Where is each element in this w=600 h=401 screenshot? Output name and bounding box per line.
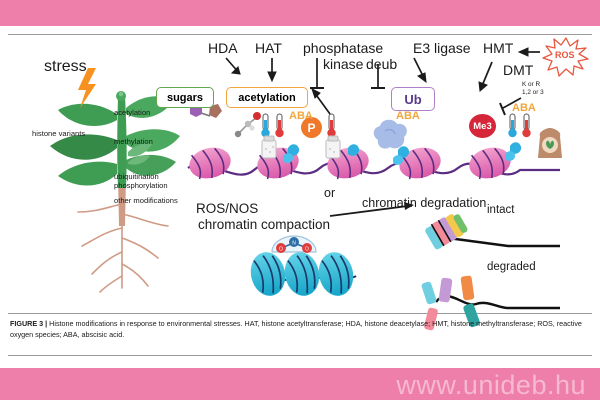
figure-caption: FIGURE 3 | Histone modifications in resp…: [10, 318, 590, 340]
divider-top: [8, 34, 592, 35]
label-hat: HAT: [255, 40, 282, 56]
annotation-acetylation: acetylation: [114, 108, 150, 117]
ubiquitin-blob-icon: [374, 120, 407, 149]
label-chromatin-degradation: chromatin degradation: [362, 196, 486, 210]
label-dmt: DMT: [503, 62, 533, 78]
ros-badge-label: ROS: [555, 50, 575, 60]
box-ubiquitin[interactable]: Ub: [391, 87, 435, 111]
compacted-chromatin: O O N: [247, 236, 357, 299]
label-deub: deub: [366, 56, 397, 72]
label-kinase: kinase: [323, 56, 363, 72]
annotation-text: histone variants: [32, 129, 85, 138]
figure-caption-text: Histone modifications in response to env…: [10, 319, 582, 339]
label-ros-nos: ROS/NOS: [196, 201, 258, 216]
divider-bottom: [8, 313, 592, 314]
label-degraded: degraded: [487, 261, 536, 273]
label-intact: intact: [487, 204, 515, 216]
annotation-phosphorylation: phosphorylation: [114, 181, 168, 190]
label-e3-ligase: E3 ligase: [413, 40, 471, 56]
divider-caption: [8, 355, 592, 356]
aba-label-3: ABA: [512, 102, 536, 114]
svg-text:N: N: [292, 240, 296, 246]
acetyl-group-icon: [235, 112, 261, 137]
annotation-ubiquitination: ubiquitination: [114, 172, 159, 181]
methyl-badge: Me3: [469, 114, 496, 138]
figure-page: www.unideb.hu: [0, 0, 600, 400]
annotation-other-modifications: other modifications: [114, 196, 178, 205]
nitric-oxide-molecule-icon: O O N: [272, 236, 316, 253]
residue-note-line1: K or R: [522, 81, 540, 88]
figure-artwork: O O N: [0, 36, 600, 311]
box-acetylation[interactable]: acetylation: [226, 87, 308, 108]
label-hmt: HMT: [483, 40, 513, 56]
label-phosphatase: phosphatase: [303, 40, 383, 56]
top-pink-band: [0, 0, 600, 26]
svg-text:O: O: [279, 246, 283, 252]
label-hda: HDA: [208, 40, 238, 56]
annotation-histone-variants: histone variants: [32, 129, 85, 138]
box-sugars[interactable]: sugars: [156, 87, 214, 108]
figure-caption-label: FIGURE 3 |: [10, 319, 47, 328]
chromatin-fiber-top: [186, 143, 560, 182]
stress-label: stress: [44, 58, 87, 76]
label-or: or: [324, 186, 335, 200]
aba-label-2: ABA: [396, 110, 420, 122]
site-watermark: www.unideb.hu: [396, 370, 586, 401]
label-chromatin-compaction: chromatin compaction: [198, 217, 330, 232]
aba-label-1: ABA: [289, 110, 313, 122]
svg-text:O: O: [305, 246, 309, 252]
residue-note-line2: 1,2 or 3: [522, 89, 544, 96]
annotation-methylation: methylation: [114, 137, 153, 146]
stress-icons-cluster-4: [505, 114, 562, 161]
